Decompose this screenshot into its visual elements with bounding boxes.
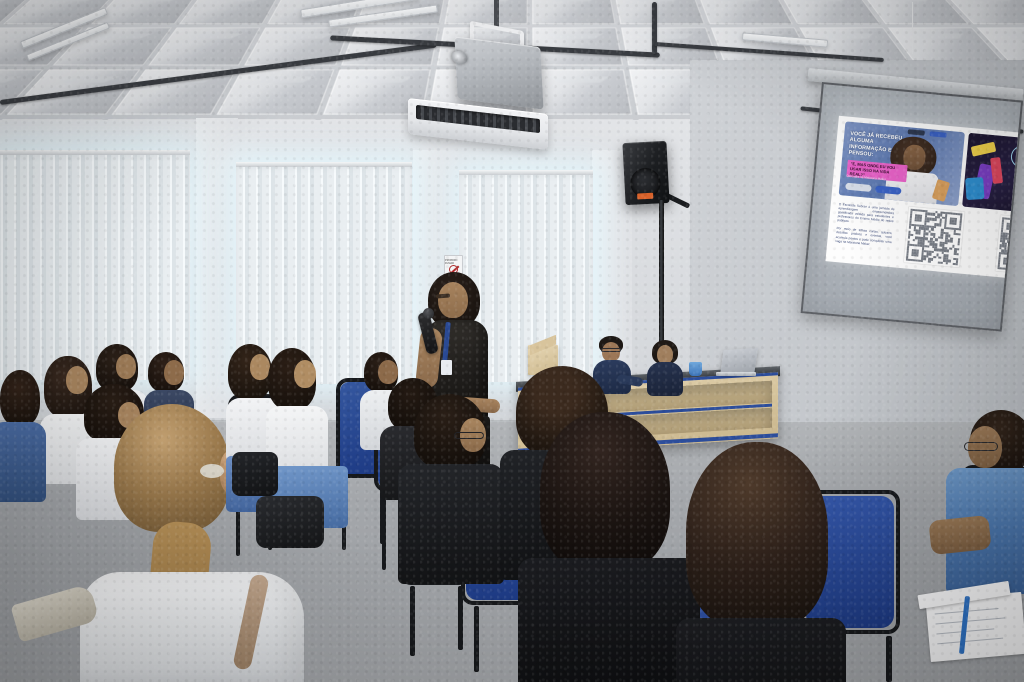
ceiling-projector xyxy=(454,36,543,109)
slide-primary-button[interactable] xyxy=(845,183,872,192)
note-taker-glasses-icon xyxy=(964,442,998,451)
audience-brown-hair xyxy=(686,442,828,628)
screen-pull-cord[interactable] xyxy=(912,2,913,54)
art-shape-yellow xyxy=(971,142,997,157)
vertical-blinds-left[interactable] xyxy=(0,150,190,380)
art-shape-blue xyxy=(965,177,984,200)
projection-screen: VOCÊ JÁ RECEBEU ALGUMA INFORMAÇÃO E PENS… xyxy=(801,82,1024,332)
blind-rail-right xyxy=(459,170,593,175)
backpack-left-2 xyxy=(232,452,278,496)
foreground-hair-clip xyxy=(200,464,224,478)
presenter-badge xyxy=(441,360,452,375)
blind-rail-left xyxy=(0,150,190,155)
projector-mount-rod xyxy=(494,0,499,28)
microphone-head-icon xyxy=(423,308,434,319)
presentation-slide: VOCÊ JÁ RECEBEU ALGUMA INFORMAÇÃO E PENS… xyxy=(825,116,1023,281)
note-taker-arm xyxy=(928,515,991,555)
slide-secondary-button[interactable] xyxy=(875,185,902,194)
blue-cup xyxy=(689,362,702,376)
loudspeaker xyxy=(622,141,669,205)
slide-body-text: O Escolada Sebrae é uma jornada de apren… xyxy=(835,202,895,252)
audience-glasses-icon xyxy=(454,432,484,439)
window-left xyxy=(0,150,190,380)
art-shape-red xyxy=(990,157,1003,184)
foreground-shirt xyxy=(80,572,304,682)
slide-logo-b xyxy=(929,131,946,138)
laptop-base[interactable] xyxy=(716,372,756,376)
slide-hero-image: VOCÊ JÁ RECEBEU ALGUMA INFORMAÇÃO E PENS… xyxy=(839,121,965,206)
audience-long-hair xyxy=(540,412,670,572)
backpack-left xyxy=(256,496,324,548)
classroom-scene: PROIBIDO FUMAR VOC xyxy=(0,0,1024,682)
slide-paragraph-2: Por meio de trilhas curtas, quizzes, des… xyxy=(835,226,892,247)
blind-rail-center xyxy=(236,162,412,167)
panelist-glasses-icon xyxy=(601,348,621,352)
slide-logo-a xyxy=(908,129,925,136)
slide-paragraph-1: O Escolada Sebrae é uma jornada de apren… xyxy=(837,202,895,227)
slide-headline: VOCÊ JÁ RECEBEU ALGUMA INFORMAÇÃO E PENS… xyxy=(848,131,908,161)
qr-code-primary[interactable] xyxy=(904,207,965,268)
speaker-brand-logo xyxy=(637,193,653,200)
